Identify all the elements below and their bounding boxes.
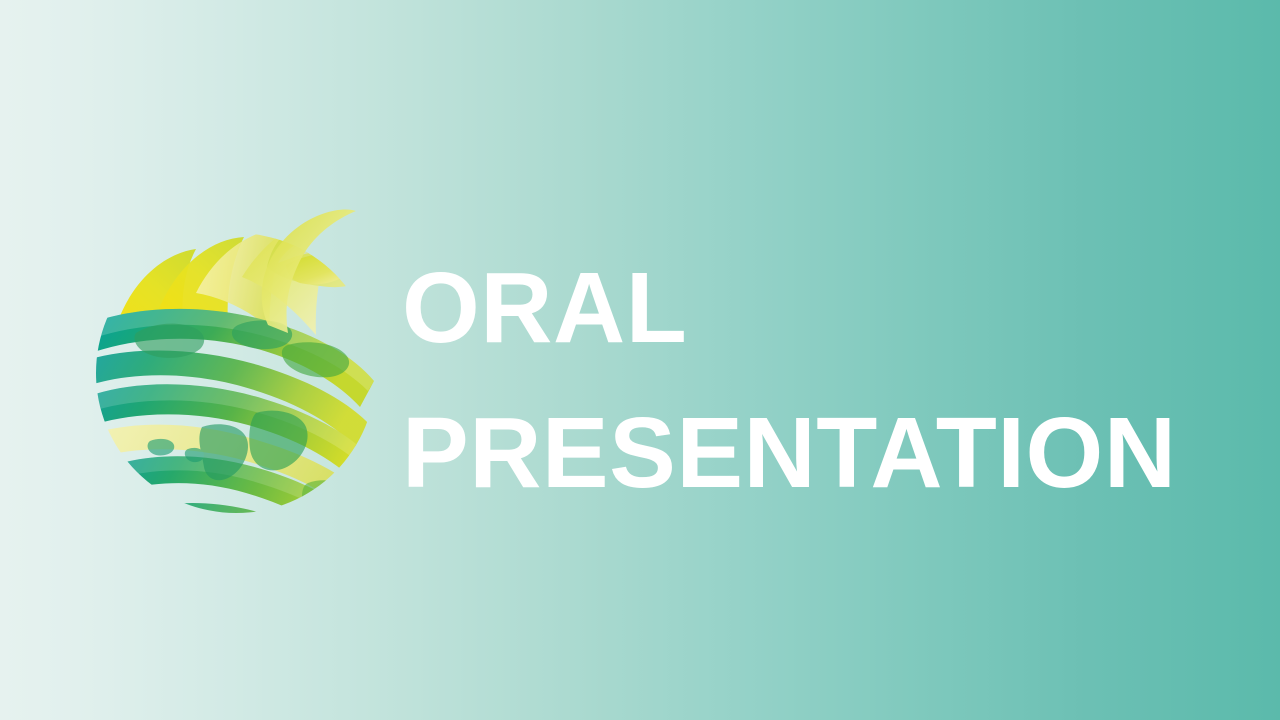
title-line-oral: ORAL <box>402 236 1222 381</box>
globe-leaf-logo <box>92 205 380 525</box>
slide-title-block: ORAL PRESENTATION <box>402 236 1222 526</box>
title-line-presentation: PRESENTATION <box>402 381 1222 526</box>
presentation-slide: ORAL PRESENTATION <box>0 0 1280 720</box>
